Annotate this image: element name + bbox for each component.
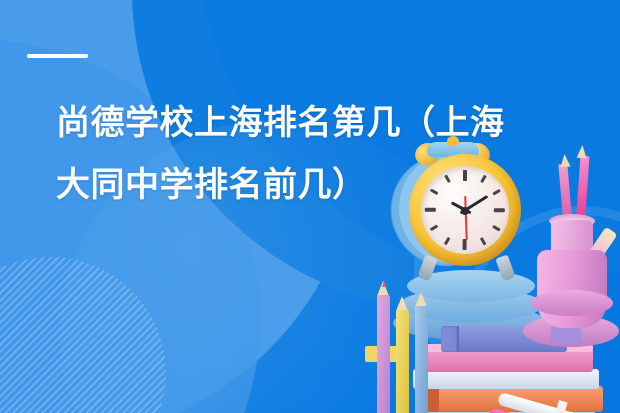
pencil-blue-tip-icon [415, 292, 427, 307]
pencil-yellow-tip-icon [396, 296, 408, 311]
book-white [413, 369, 599, 389]
pencil-purple-lead-icon [382, 281, 386, 287]
holder-pencil-light-pink-tip-icon [559, 154, 570, 168]
accent-dash [27, 54, 88, 58]
clock-tick-9 [425, 208, 436, 212]
clock-tick-6 [463, 239, 467, 250]
pencil-yellow [396, 310, 409, 413]
pen-holder-ring [531, 290, 613, 316]
pencil-purple [377, 295, 390, 413]
holder-pencil-magenta-tip-icon [577, 145, 588, 159]
banner: 尚德学校上海排名第几（上海大同中学排名前几） [0, 0, 620, 413]
book-blue-spine [441, 326, 459, 352]
study-illustration [355, 130, 620, 413]
pencil-blue [415, 306, 428, 413]
clock-tick-3 [494, 208, 505, 212]
clock-tick-12 [463, 170, 467, 181]
pen-holder-body [537, 250, 607, 328]
clock-center-pin [461, 207, 469, 215]
clock-knob [447, 136, 459, 146]
